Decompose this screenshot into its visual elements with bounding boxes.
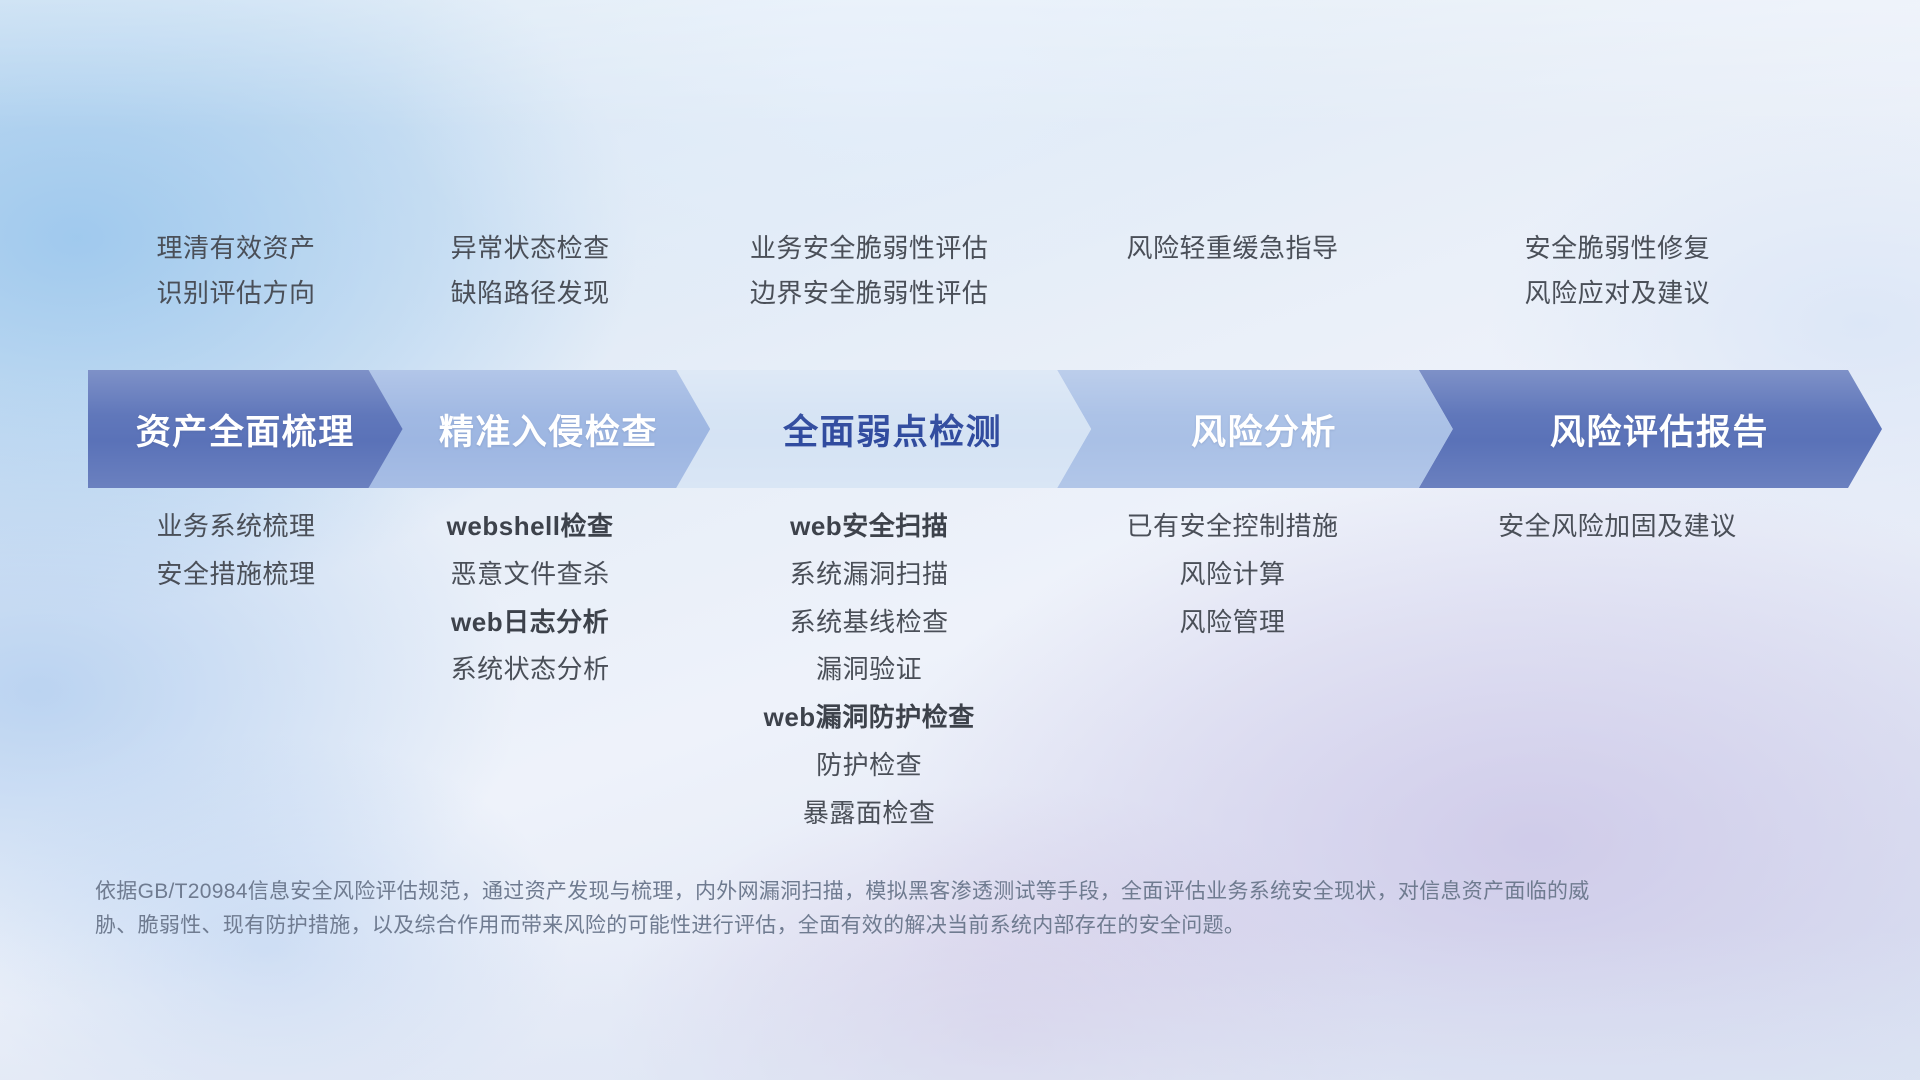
detail-list-item: 已有安全控制措施 xyxy=(1126,510,1338,544)
detail-list-item: 恶意文件查杀 xyxy=(451,558,610,592)
detail-list-item: 安全措施梳理 xyxy=(156,558,315,592)
detail-list-item: webshell检查 xyxy=(447,510,614,544)
detail-list-risk-analysis: 已有安全控制措施风险计算风险管理 xyxy=(1055,510,1410,639)
top-note-column-risk-report: 安全脆弱性修复风险应对及建议 xyxy=(1410,232,1825,311)
chevron-stage-weakness-detection[interactable]: 全面弱点检测 xyxy=(676,370,1091,488)
chevron-label: 风险分析 xyxy=(1173,404,1337,455)
chevron-label: 风险评估报告 xyxy=(1532,404,1769,455)
top-note-text: 安全脆弱性修复 xyxy=(1525,232,1711,265)
chevron-label: 资产全面梳理 xyxy=(136,404,355,455)
detail-list-item: 业务系统梳理 xyxy=(156,510,315,544)
detail-list-item: 防护检查 xyxy=(816,749,922,783)
detail-list-item: 风险管理 xyxy=(1179,606,1285,640)
detail-list-item: web漏洞防护检查 xyxy=(764,701,975,735)
chevron-label: 精准入侵检查 xyxy=(421,404,658,455)
detail-list-asset-inventory: 业务系统梳理安全措施梳理 xyxy=(95,510,377,592)
slide-canvas: 理清有效资产识别评估方向异常状态检查缺陷路径发现业务安全脆弱性评估边界安全脆弱性… xyxy=(0,0,1920,1080)
top-note-text: 业务安全脆弱性评估 xyxy=(750,232,989,265)
detail-list-item: 安全风险加固及建议 xyxy=(1498,510,1737,544)
top-note-text: 缺陷路径发现 xyxy=(451,277,610,310)
chevron-stage-risk-report[interactable]: 风险评估报告 xyxy=(1419,370,1882,488)
top-note-column-risk-analysis: 风险轻重缓急指导 xyxy=(1055,232,1410,311)
top-note-column-intrusion-check: 异常状态检查缺陷路径发现 xyxy=(377,232,683,311)
top-note-text: 边界安全脆弱性评估 xyxy=(750,277,989,310)
chevron-label: 全面弱点检测 xyxy=(765,404,1002,455)
process-chevron-band: 资产全面梳理精准入侵检查全面弱点检测风险分析风险评估报告 xyxy=(88,370,1848,488)
top-annotations-row: 理清有效资产识别评估方向异常状态检查缺陷路径发现业务安全脆弱性评估边界安全脆弱性… xyxy=(95,232,1825,311)
top-note-column-weakness-detection: 业务安全脆弱性评估边界安全脆弱性评估 xyxy=(683,232,1055,311)
chevron-stage-asset-inventory[interactable]: 资产全面梳理 xyxy=(88,370,403,488)
detail-list-item: web安全扫描 xyxy=(790,510,948,544)
detail-list-item: 系统基线检查 xyxy=(790,606,949,640)
top-note-text: 风险轻重缓急指导 xyxy=(1126,232,1338,265)
detail-list-item: 系统漏洞扫描 xyxy=(790,558,949,592)
detail-list-item: 系统状态分析 xyxy=(451,653,610,687)
chevron-stage-risk-analysis[interactable]: 风险分析 xyxy=(1057,370,1453,488)
top-note-text: 风险应对及建议 xyxy=(1525,277,1711,310)
detail-list-item: 暴露面检查 xyxy=(803,797,936,831)
footer-description: 依据GB/T20984信息安全风险评估规范，通过资产发现与梳理，内外网漏洞扫描，… xyxy=(95,875,1615,943)
diagram-content: 理清有效资产识别评估方向异常状态检查缺陷路径发现业务安全脆弱性评估边界安全脆弱性… xyxy=(0,0,1920,1080)
top-note-text: 异常状态检查 xyxy=(451,232,610,265)
footer-paragraph: 依据GB/T20984信息安全风险评估规范，通过资产发现与梳理，内外网漏洞扫描，… xyxy=(95,875,1615,943)
detail-list-risk-report: 安全风险加固及建议 xyxy=(1410,510,1825,544)
chevron-stage-intrusion-check[interactable]: 精准入侵检查 xyxy=(369,370,711,488)
bottom-details-row: 业务系统梳理安全措施梳理webshell检查恶意文件查杀web日志分析系统状态分… xyxy=(95,510,1825,831)
top-note-column-asset-inventory: 理清有效资产识别评估方向 xyxy=(95,232,377,311)
top-note-text: 识别评估方向 xyxy=(156,277,315,310)
top-note-text: 理清有效资产 xyxy=(156,232,315,265)
detail-list-weakness-detection: web安全扫描系统漏洞扫描系统基线检查漏洞验证web漏洞防护检查防护检查暴露面检… xyxy=(683,510,1055,831)
detail-list-item: web日志分析 xyxy=(451,606,609,640)
detail-list-item: 风险计算 xyxy=(1179,558,1285,592)
detail-list-intrusion-check: webshell检查恶意文件查杀web日志分析系统状态分析 xyxy=(377,510,683,687)
detail-list-item: 漏洞验证 xyxy=(816,653,922,687)
